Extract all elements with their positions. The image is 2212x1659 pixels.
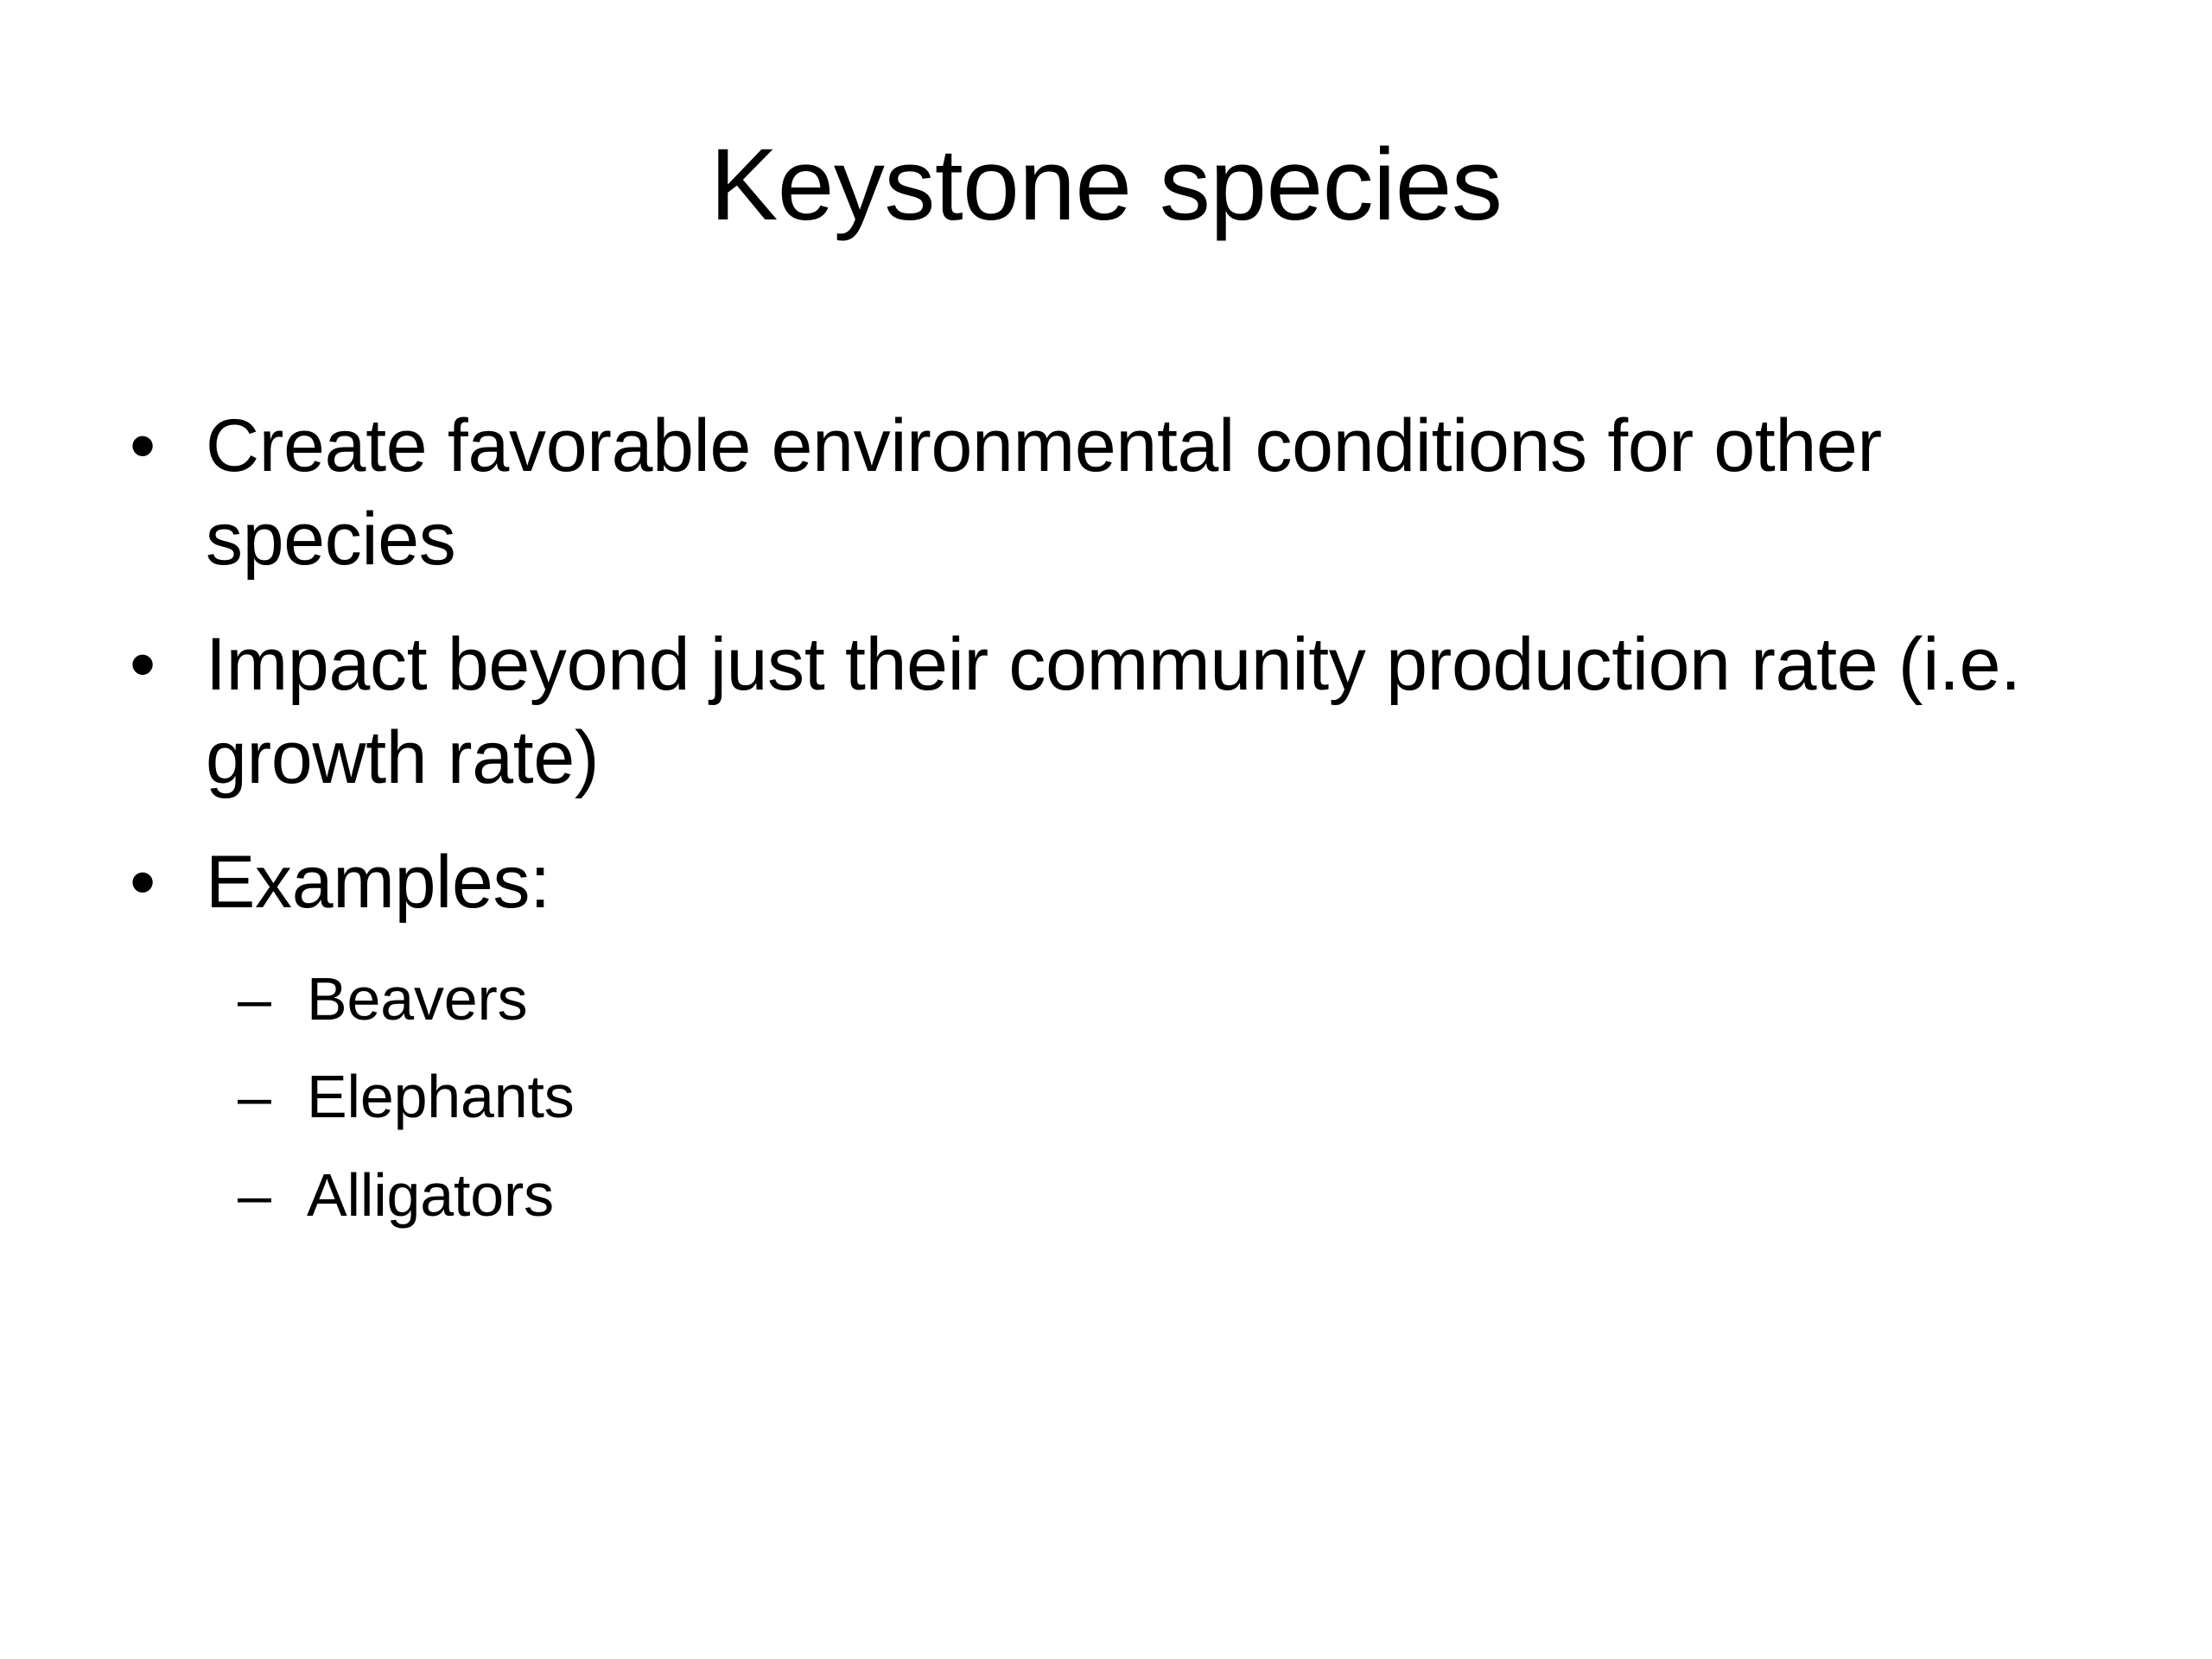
bullet-dot-icon: • (130, 399, 206, 493)
bullet-item: • Create favorable environmental conditi… (130, 399, 2108, 587)
sub-bullet-item: – Beavers (130, 961, 2108, 1039)
sub-bullet-text: Alligators (307, 1157, 554, 1235)
bullet-dash-icon: – (238, 1157, 307, 1235)
slide-body-placeholder: • Create favorable environmental conditi… (130, 399, 2108, 1255)
sub-bullet-item: – Alligators (130, 1157, 2108, 1235)
bullet-text: Impact beyond just their community produ… (206, 618, 2050, 805)
sub-bullet-list: – Beavers – Elephants – Alligators (130, 961, 2108, 1235)
bullet-dot-icon: • (130, 836, 206, 929)
bullet-dash-icon: – (238, 1058, 307, 1136)
bullet-item: • Impact beyond just their community pro… (130, 618, 2108, 805)
bullet-dash-icon: – (238, 961, 307, 1039)
sub-bullet-item: – Elephants (130, 1058, 2108, 1136)
bullet-dot-icon: • (130, 618, 206, 711)
bullet-item: • Examples: (130, 836, 2108, 929)
slide-title: Keystone species (0, 128, 2212, 242)
sub-bullet-text: Elephants (307, 1058, 575, 1136)
presentation-slide: Keystone species • Create favorable envi… (0, 0, 2212, 1659)
bullet-text: Create favorable environmental condition… (206, 399, 2050, 587)
bullet-text: Examples: (206, 836, 2050, 929)
sub-bullet-text: Beavers (307, 961, 527, 1039)
